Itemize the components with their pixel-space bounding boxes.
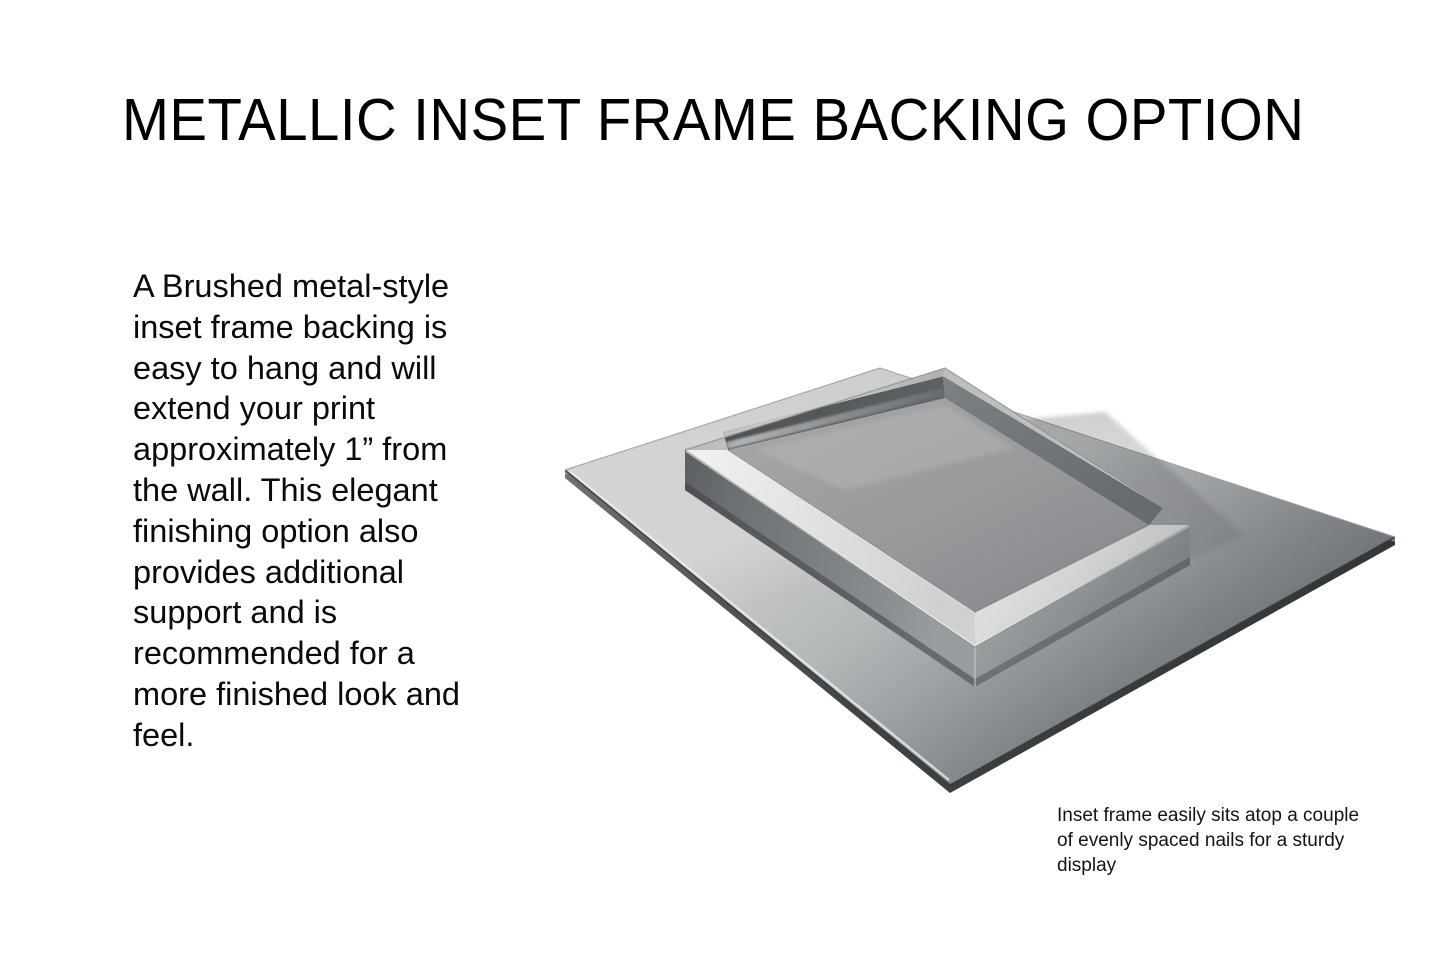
page-title: METALLIC INSET FRAME BACKING OPTION <box>122 88 1287 152</box>
body-paragraph: A Brushed metal-style inset frame backin… <box>133 266 485 756</box>
illustration-caption: Inset frame easily sits atop a couple of… <box>1057 803 1367 878</box>
product-illustration <box>545 350 1415 810</box>
inset-frame-illustration-svg <box>545 350 1415 810</box>
slide-canvas: METALLIC INSET FRAME BACKING OPTION A Br… <box>0 0 1445 963</box>
